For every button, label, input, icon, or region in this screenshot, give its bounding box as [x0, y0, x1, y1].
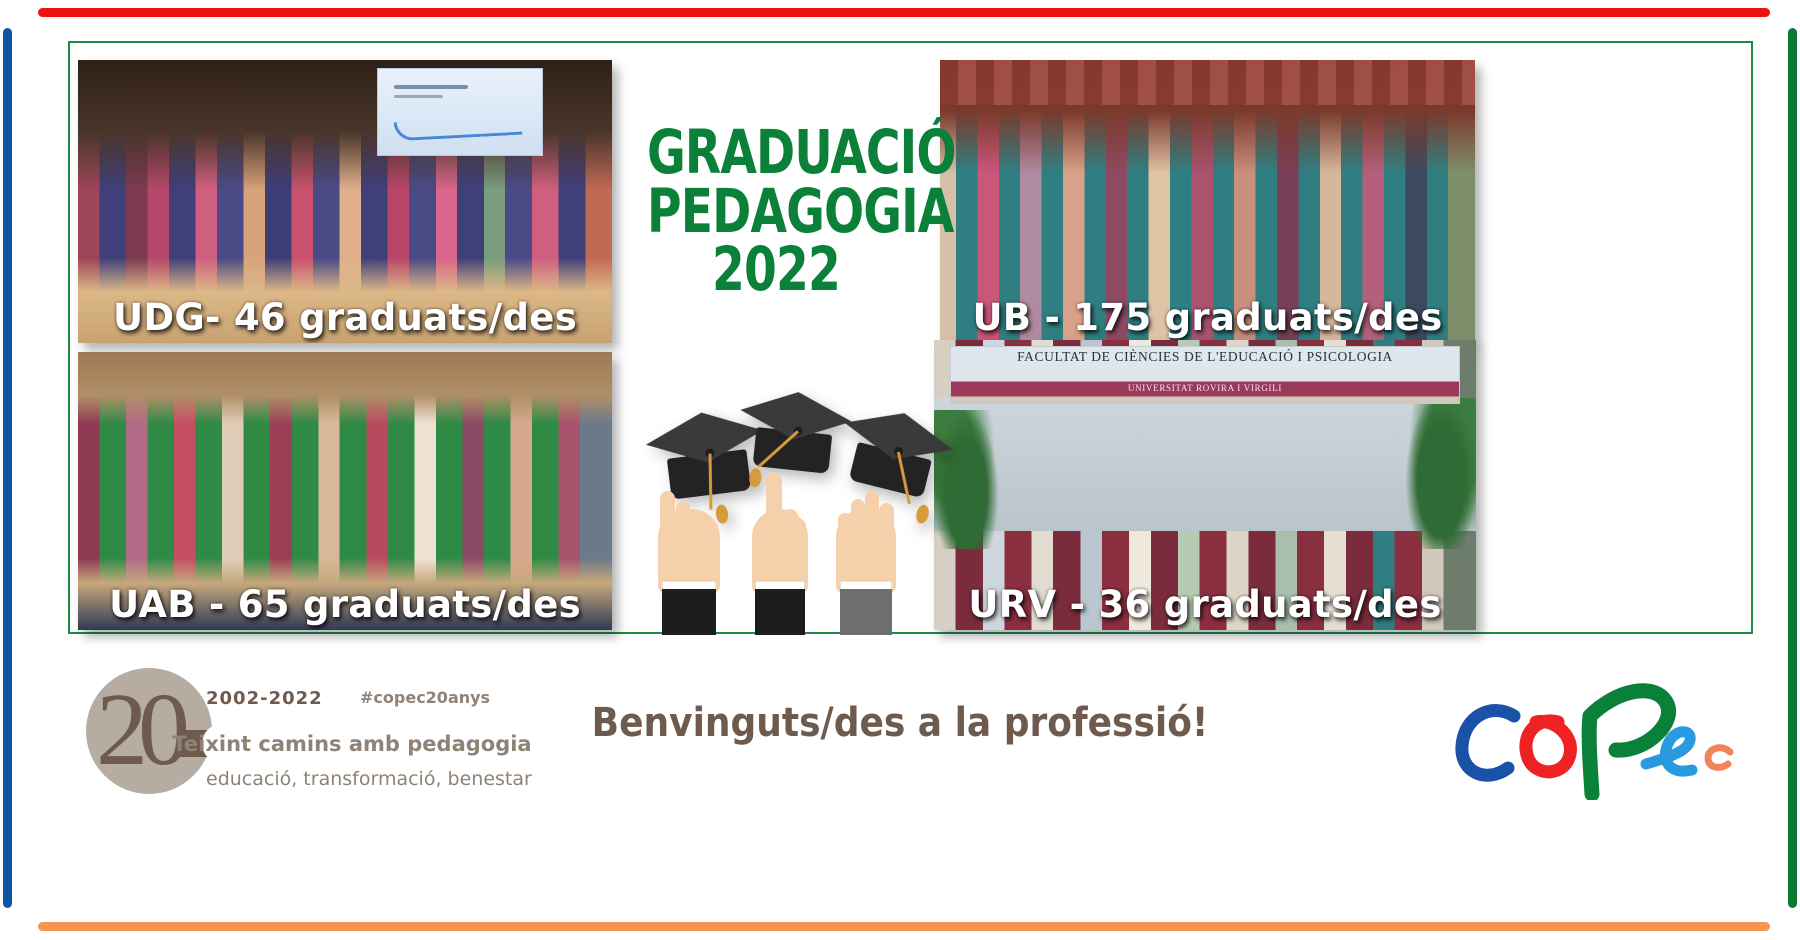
photo-caption-uab: UAB - 65 graduats/des: [109, 583, 581, 626]
photo-card-uab: UAB - 65 graduats/des: [78, 352, 612, 630]
anniversary-hashtag: #copec20anys: [360, 688, 490, 707]
poster-footer: 20 2002-2022 #copec20anys Teixint camins…: [0, 640, 1800, 940]
page-title: GRADUACIÓ PEDAGOGIA 2022: [626, 124, 926, 300]
faculty-sign-line2: UNIVERSITAT ROVIRA I VIRGILI: [951, 383, 1458, 393]
photo-caption-wrap-udg: UDG- 46 graduats/des: [78, 296, 612, 339]
plant-right-icon: [1406, 398, 1476, 549]
anniversary-motto-pill: Teixint camins amb pedagogia: [202, 724, 502, 763]
anniversary-subtitle: educació, transformació, benestar: [206, 768, 532, 790]
graduation-illustration: [640, 390, 940, 635]
top-accent-rule: [38, 8, 1770, 17]
photo-card-urv: FACULTAT DE CIÈNCIES DE L'EDUCACIÓ I PSI…: [934, 340, 1476, 630]
footer-tagline: Benvinguts/des a la professió!: [520, 700, 1280, 746]
copec-letter-c2: [1708, 748, 1730, 768]
pointing-hand-icon: [752, 510, 808, 635]
anniversary-logo: 20 2002-2022 #copec20anys Teixint camins…: [78, 660, 498, 800]
poster-canvas: UDG- 46 graduats/des UB - 175 graduats/d…: [0, 0, 1800, 940]
photo-card-ub: UB - 175 graduats/des: [940, 60, 1475, 343]
photo-caption-ub: UB - 175 graduats/des: [972, 296, 1442, 339]
anniversary-motto: Teixint camins amb pedagogia: [172, 732, 531, 756]
raised-hand-icon: [836, 520, 896, 635]
copec-letter-c1: [1462, 711, 1514, 776]
photo-card-udg: UDG- 46 graduats/des: [78, 60, 612, 343]
raised-hand-icon: [658, 522, 720, 635]
building-wall: [934, 398, 1476, 531]
anniversary-years: 2002-2022: [206, 688, 323, 709]
copec-letter-o: [1526, 721, 1571, 772]
photo-caption-urv: URV - 36 graduats/des: [968, 583, 1441, 626]
photo-caption-wrap-ub: UB - 175 graduats/des: [940, 296, 1475, 339]
photo-caption-wrap-urv: URV - 36 graduats/des: [934, 583, 1476, 626]
photo-caption-udg: UDG- 46 graduats/des: [113, 296, 577, 339]
faculty-sign: FACULTAT DE CIÈNCIES DE L'EDUCACIÓ I PSI…: [950, 346, 1459, 404]
faculty-sign-line1: FACULTAT DE CIÈNCIES DE L'EDUCACIÓ I PSI…: [951, 349, 1458, 365]
projector-screen: [377, 68, 543, 156]
copec-letter-p: [1589, 691, 1668, 794]
headline-line-1: GRADUACIÓ: [647, 124, 905, 183]
copec-logo-svg: [1440, 660, 1740, 800]
copec-brand-logo: [1440, 660, 1740, 800]
photo-caption-wrap-uab: UAB - 65 graduats/des: [78, 583, 612, 626]
headline-line-3: 2022: [647, 241, 905, 300]
headline-line-2: PEDAGOGIA: [647, 183, 905, 242]
